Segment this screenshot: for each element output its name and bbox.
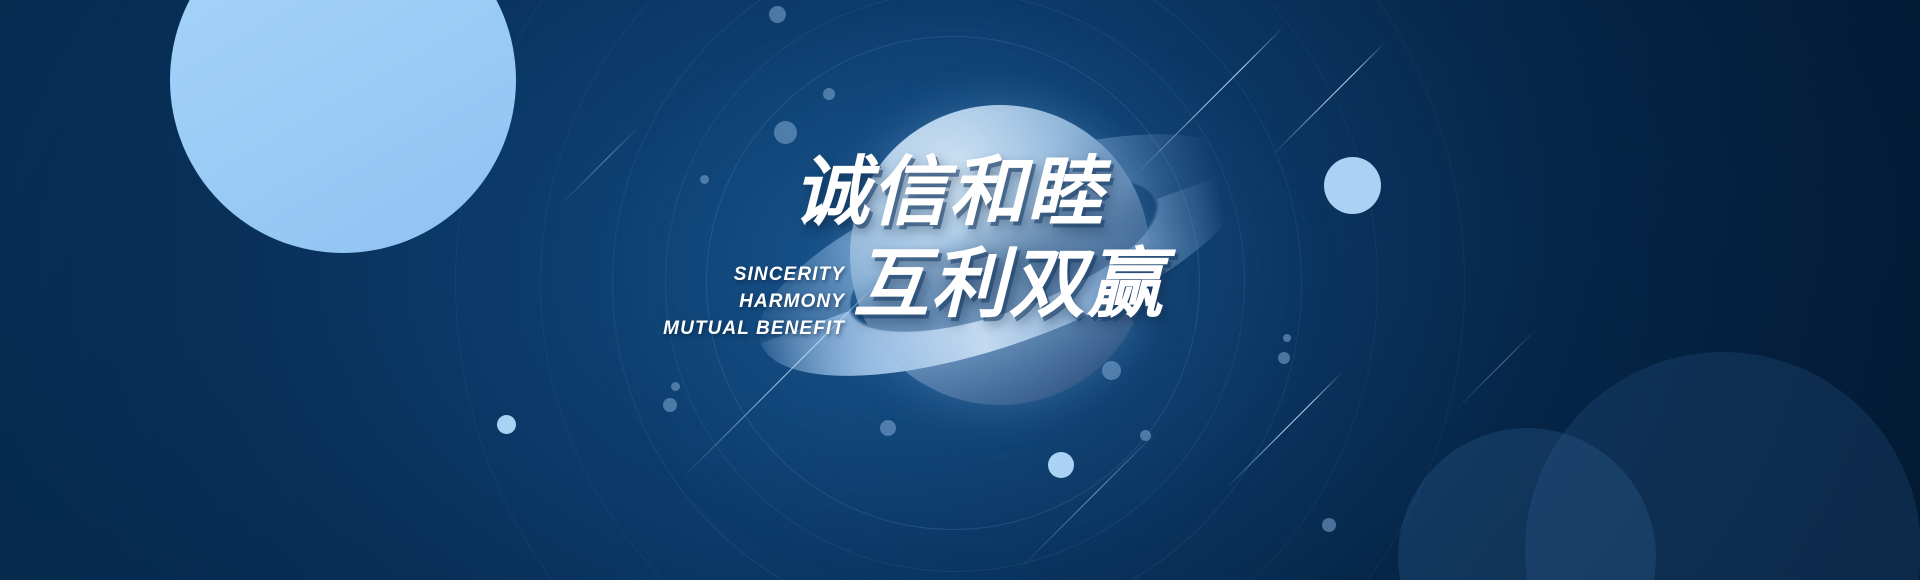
glow-dot-right [1324, 157, 1381, 214]
top-left-accent-circle [170, 0, 516, 253]
comet-streak [1272, 42, 1386, 156]
orbit-dot [774, 121, 797, 144]
orbit-ring-4 [540, 0, 1378, 580]
saturn-planet-icon [850, 105, 1150, 405]
planet-ring-front [730, 84, 1275, 426]
planet-sphere [850, 105, 1150, 405]
glow-dot-left [497, 415, 516, 434]
planet-shading-overlay [850, 105, 1150, 405]
planet-ring-back [730, 84, 1275, 426]
orbit-ring-3 [612, 0, 1302, 580]
orbit-dot [663, 398, 677, 412]
planet-halo-glow [590, 20, 1330, 580]
orbit-ring-2 [665, 0, 1245, 572]
orbit-ring-1 [706, 36, 1200, 530]
orbit-dot [671, 382, 680, 391]
chinese-headline-line-1: 诚信和睦 [793, 155, 1105, 231]
orbit-dot [880, 420, 896, 436]
comet-streak [1018, 429, 1160, 571]
orbit-dot [823, 88, 835, 100]
comet-streak [1226, 371, 1343, 488]
english-tagline-block: SINCERITY HARMONY MUTUAL BENEFIT [640, 262, 845, 343]
orbit-dot [700, 175, 709, 184]
orbit-dot [1283, 334, 1291, 342]
hero-banner: SINCERITY HARMONY MUTUAL BENEFIT 诚信和睦 互利… [0, 0, 1920, 580]
orbit-dot [1278, 352, 1290, 364]
comet-streak [682, 273, 888, 479]
orbit-dot [1140, 430, 1151, 441]
orbit-dot [1102, 361, 1121, 380]
comet-streak [560, 126, 640, 206]
comet-streak [1455, 329, 1537, 411]
comet-streak [1135, 27, 1284, 176]
planet-ring-shadow [788, 152, 1223, 384]
orbit-dot [1322, 518, 1336, 532]
english-tagline-line-2: HARMONY [640, 289, 845, 316]
english-tagline-line-3: MUTUAL BENEFIT [640, 316, 845, 343]
english-tagline-line-1: SINCERITY [640, 262, 845, 289]
orbit-dot [769, 6, 786, 23]
glow-dot-center [1048, 452, 1074, 478]
chinese-headline-line-2: 互利双赢 [853, 247, 1165, 323]
orbit-ring-5 [455, 0, 1465, 580]
